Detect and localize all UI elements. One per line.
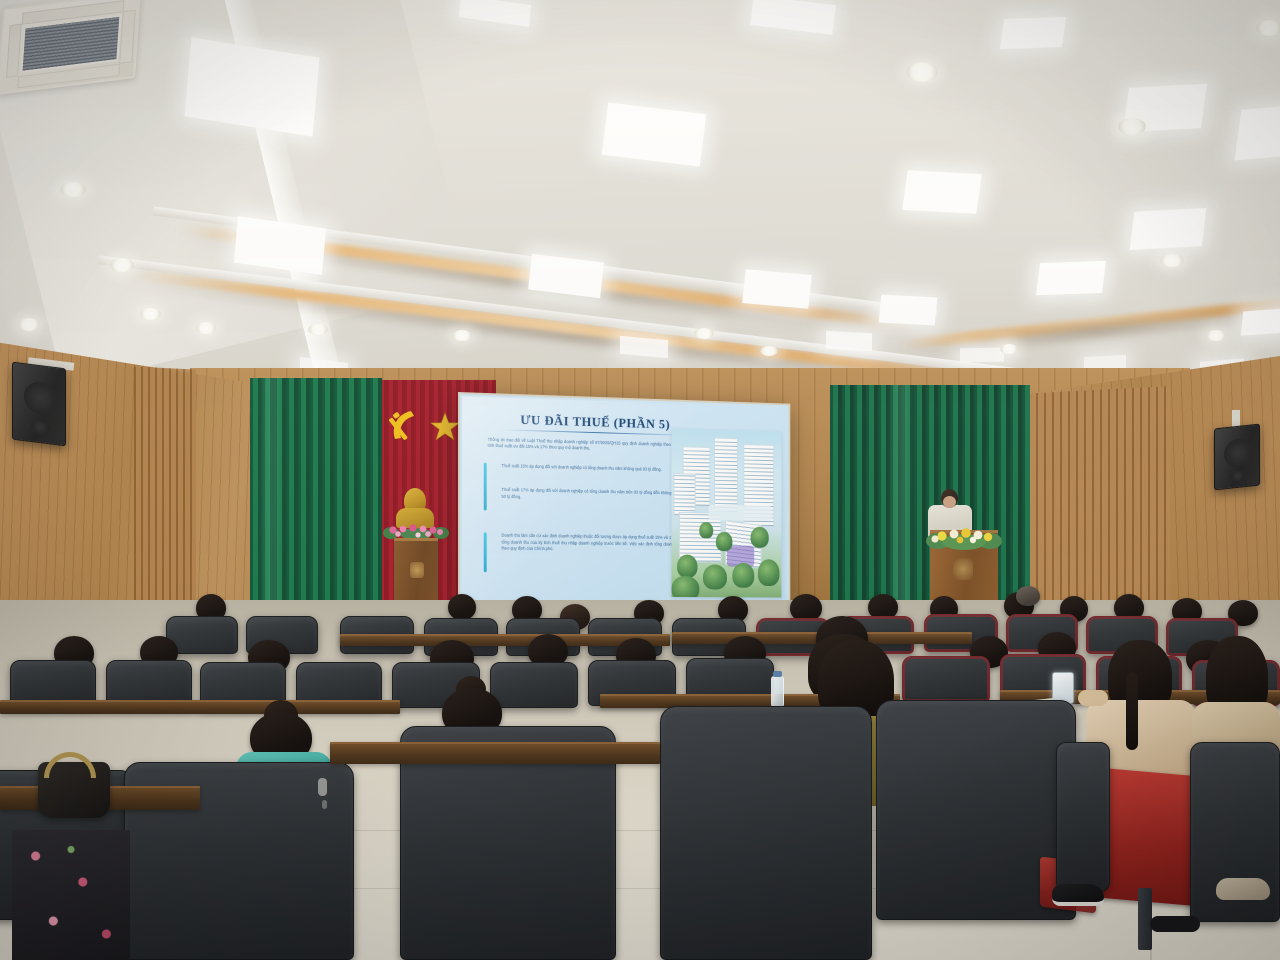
acoustic-slat-panel <box>134 366 196 619</box>
recessed-downlight <box>1160 254 1184 267</box>
building-tower <box>714 438 738 513</box>
tree <box>732 563 754 588</box>
slide-photo-building-complex <box>672 429 782 598</box>
audience-desk <box>0 700 400 714</box>
wall-speaker-left <box>12 362 66 447</box>
attendee-ponytail <box>1126 672 1138 750</box>
led-panel-light <box>620 336 668 358</box>
led-panel-light <box>1241 308 1280 335</box>
auditorium-chair <box>902 656 990 702</box>
audience-desk-front <box>330 742 660 764</box>
conference-hall-photo: ƯU ĐÃI THUẾ (PHẦN 5) Thông tin trao đổi … <box>0 0 1280 960</box>
recessed-downlight <box>1256 20 1280 36</box>
tree <box>672 576 700 598</box>
speaker-cone <box>1224 437 1252 468</box>
led-panel-light <box>879 295 938 326</box>
curtain-sheen <box>258 378 284 616</box>
ac-vane <box>119 10 136 64</box>
recessed-downlight <box>196 322 216 334</box>
tree <box>751 527 769 548</box>
chair-scuff <box>318 778 327 796</box>
recessed-downlight <box>60 182 86 197</box>
led-panel-light <box>960 348 1004 363</box>
attendee-arm <box>1078 690 1108 706</box>
led-panel-light <box>1234 106 1280 161</box>
speaker-tweeter <box>1230 470 1245 482</box>
led-panel-light <box>750 0 836 35</box>
hammer-and-sickle-icon <box>385 405 429 447</box>
led-panel-light <box>528 254 604 298</box>
ac-vane <box>6 24 22 78</box>
recessed-downlight <box>760 346 778 356</box>
ac-grille <box>20 15 121 73</box>
chair-leg <box>1138 888 1152 950</box>
attendee-head <box>448 594 476 620</box>
folding-seat-red <box>1096 767 1202 906</box>
recessed-downlight <box>110 258 134 272</box>
recessed-downlight <box>1118 118 1146 135</box>
water-bottle <box>771 676 784 708</box>
slide-bullet-2: Thuế suất 17% áp dụng đối với doanh nghi… <box>490 487 679 504</box>
acoustic-slat-panel <box>1020 386 1170 609</box>
recessed-downlight <box>308 324 328 335</box>
wall-speaker-right <box>1214 424 1260 491</box>
bottle-cap <box>773 671 782 677</box>
recessed-downlight <box>906 62 938 82</box>
slide-bullet-1: Thuế suất 15% áp dụng đối với doanh nghi… <box>490 463 679 474</box>
speaker-tweeter <box>31 420 49 434</box>
slide-note-block: Doanh thu làm căn cứ xác định doanh nghi… <box>490 532 681 554</box>
ceiling <box>0 0 1280 395</box>
led-panel-light <box>459 0 531 27</box>
speaker-cone <box>24 380 56 416</box>
note-accent-bar <box>484 532 486 572</box>
recessed-downlight <box>140 308 161 320</box>
auditorium-chair <box>490 662 578 708</box>
recessed-downlight <box>694 328 714 339</box>
led-panel-light <box>742 269 812 308</box>
flower-arrangement-lectern <box>926 525 1002 551</box>
attendee-shoe <box>1052 884 1104 906</box>
led-panel-light <box>902 170 982 214</box>
attendee-shoe <box>1150 916 1200 932</box>
tree <box>677 554 697 577</box>
building-block <box>673 473 695 516</box>
bullet-accent-bar <box>484 463 486 511</box>
stage-curtain-green-left <box>250 378 382 616</box>
auditorium-chair-side <box>1056 742 1110 892</box>
curtain-sheen <box>886 385 916 610</box>
led-panel-light <box>1130 208 1207 250</box>
podium-roof <box>709 505 773 521</box>
presentation-slide: ƯU ĐÃI THUẾ (PHẦN 5) Thông tin trao đổi … <box>462 396 787 601</box>
cove-shadow <box>896 301 1280 359</box>
tree <box>703 564 727 589</box>
led-panel-light <box>1000 17 1066 49</box>
recessed-downlight <box>452 330 472 341</box>
tree <box>758 559 780 586</box>
led-panel-light <box>1036 261 1106 295</box>
recessed-downlight <box>18 318 40 331</box>
tree <box>716 532 732 551</box>
led-panel-light <box>602 102 707 166</box>
presenter-face <box>943 496 956 508</box>
slide-intro-paragraph: Thông tin trao đổi về Luật Thuế thu nhập… <box>488 437 687 455</box>
led-panel-light <box>826 331 872 351</box>
tree <box>699 522 713 539</box>
lectern-emblem <box>953 558 973 580</box>
attendee-head <box>1016 586 1040 606</box>
auditorium-chair-front <box>660 706 872 960</box>
gold-star-icon <box>430 412 460 442</box>
chair-scuff <box>322 800 327 809</box>
pedestal-emblem <box>410 562 424 578</box>
attendee-shoe <box>1216 878 1270 900</box>
recessed-downlight <box>1206 330 1226 341</box>
projection-screen: ƯU ĐÃI THUẾ (PHẦN 5) Thông tin trao đổi … <box>458 392 790 605</box>
attendee-floral-skirt <box>12 830 130 960</box>
recessed-downlight <box>1000 344 1018 354</box>
